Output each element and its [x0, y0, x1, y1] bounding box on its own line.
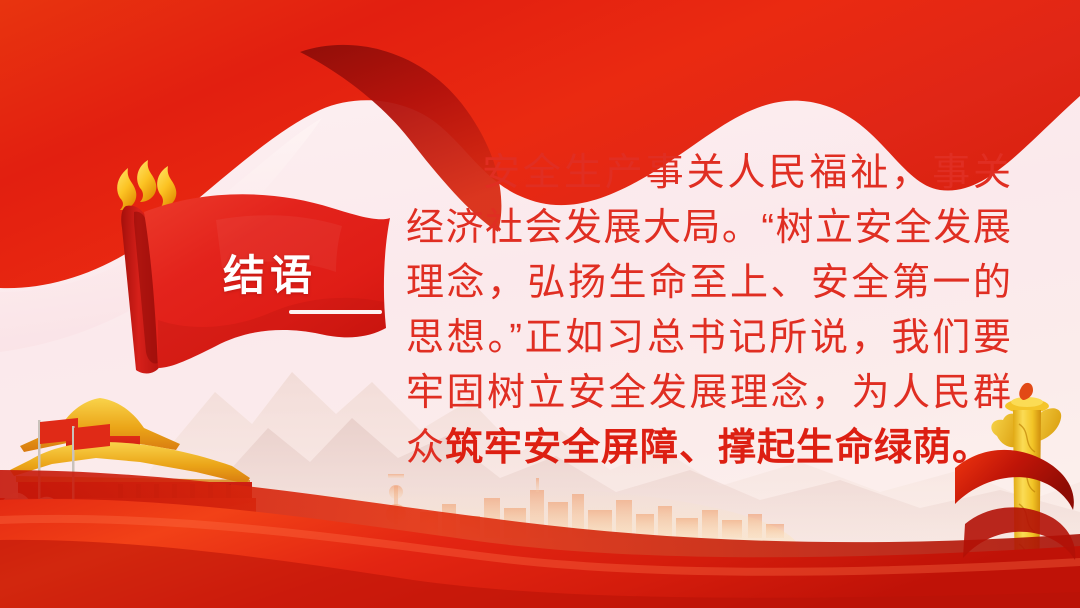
- flag-banner: 结语: [96, 160, 396, 395]
- paragraph-text: 安全生产事关人民福祉，事关经济社会发展大局。“树立安全发展理念，弘扬生命至上、安…: [406, 146, 1012, 476]
- tiananmen-gate: 中华人民共和国万岁: [0, 392, 270, 542]
- slide-canvas: 中华人民共和国万岁: [0, 0, 1080, 608]
- flag-title-underline: [289, 310, 382, 314]
- conclusion-paragraph: 安全生产事关人民福祉，事关经济社会发展大局。“树立安全发展理念，弘扬生命至上、安…: [406, 146, 1012, 476]
- flag-title-text: 结语: [96, 255, 396, 297]
- gold-finial-icon: [117, 160, 176, 210]
- body-line-5-emphasis: 筑牢安全屏障、撑起生命绿荫。: [445, 427, 991, 469]
